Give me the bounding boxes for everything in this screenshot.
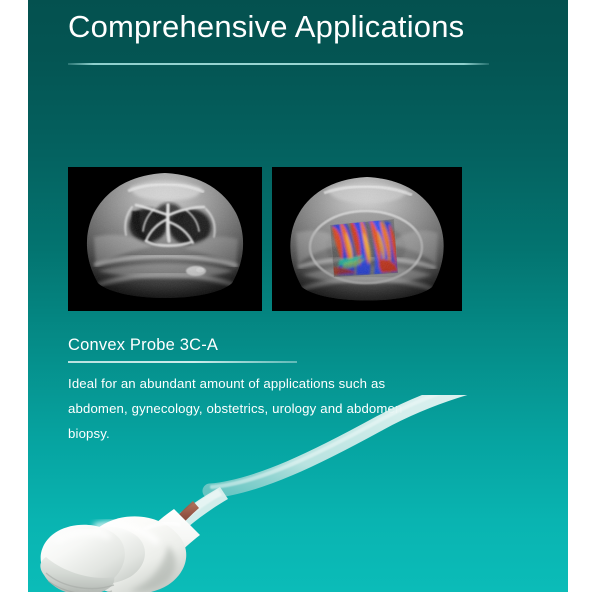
color-doppler-ultrasound-image	[272, 167, 462, 311]
b-mode-ultrasound-image	[68, 167, 262, 311]
convex-ultrasound-probe-photo	[28, 395, 568, 592]
bottom-margin	[0, 592, 600, 600]
color-doppler-ultrasound-canvas	[272, 167, 462, 311]
slide-root: Comprehensive Applications	[0, 0, 600, 600]
page-title: Comprehensive Applications	[68, 4, 528, 50]
probe-illustration	[28, 395, 568, 592]
product-name: Convex Probe 3C-A	[68, 336, 218, 355]
teal-gradient-panel: Comprehensive Applications	[28, 0, 568, 592]
left-margin	[0, 0, 28, 600]
title-divider	[68, 63, 489, 65]
right-margin	[568, 0, 600, 600]
b-mode-ultrasound-canvas	[68, 167, 262, 311]
product-name-divider	[68, 361, 297, 363]
